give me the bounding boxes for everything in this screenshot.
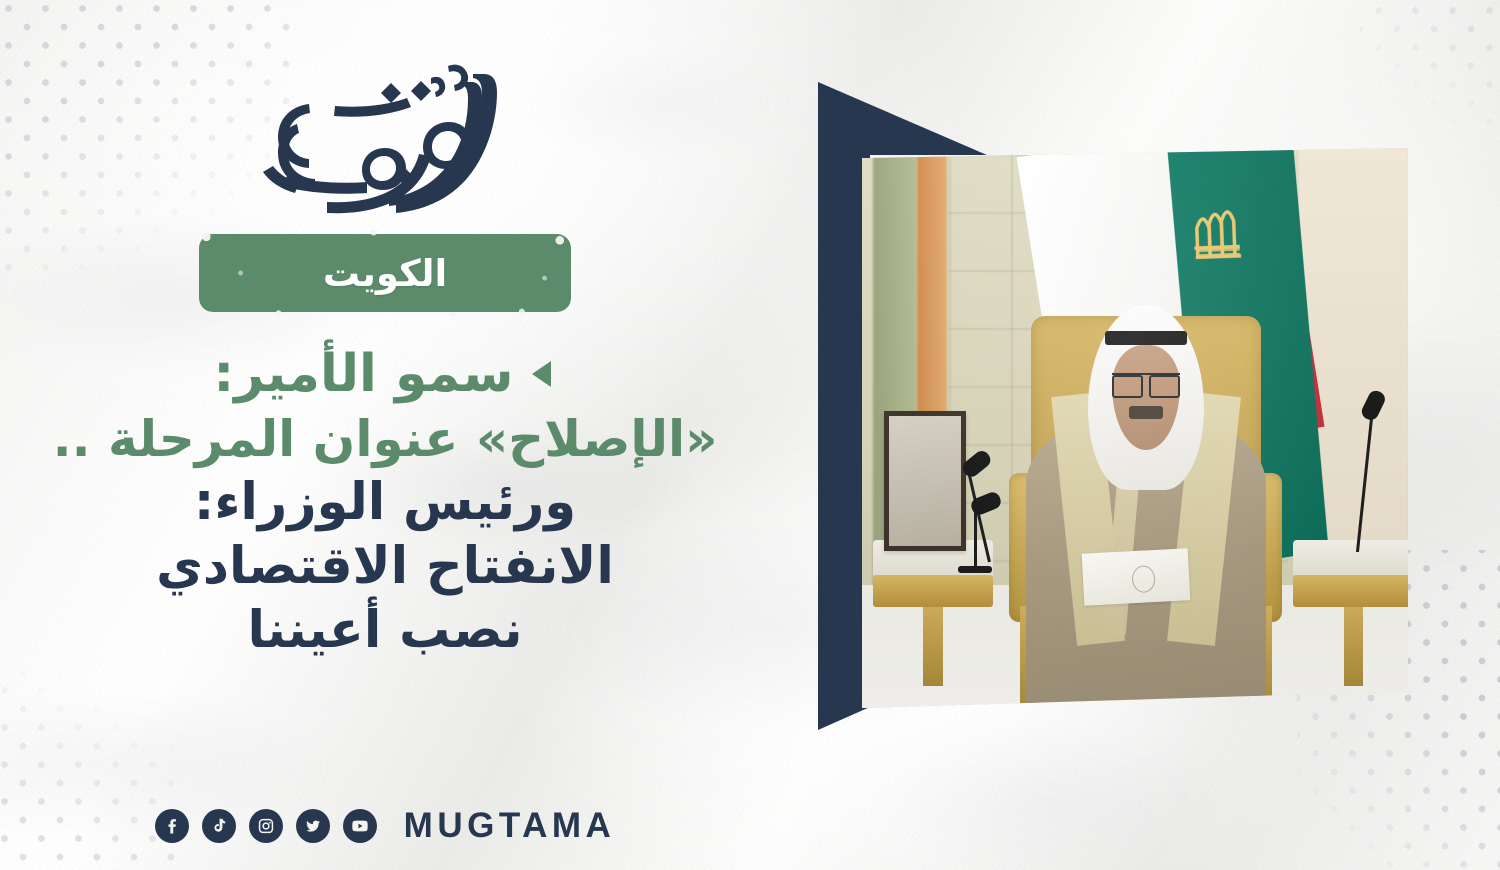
headline-line-4: الانفتاح الاقتصادي [35,535,735,599]
table-top-right [1293,540,1408,578]
brand-wordmark: MUGTAMA [404,806,616,846]
left-triangle-icon [532,361,551,387]
twitter-icon[interactable] [296,809,330,843]
youtube-icon[interactable] [343,809,377,843]
headline: سمو الأمير: «الإصلاح» عنوان المرحلة .. و… [35,342,735,663]
news-photo [862,148,1408,708]
table-band-left [873,575,993,607]
headline-line-3: ورئيس الوزراء: [35,471,735,535]
table-stem-left [923,607,942,686]
mustache [1129,406,1163,420]
table-band-right [1293,575,1408,607]
eyeglasses-icon [1112,373,1179,393]
instagram-icon[interactable] [249,809,283,843]
headline-line-2: «الإصلاح» عنوان المرحلة .. [35,408,735,471]
country-badge[interactable]: الكويت [199,234,571,312]
country-badge-label: الكويت [323,252,447,295]
facebook-icon[interactable] [155,809,189,843]
side-table-right [1293,540,1408,686]
headline-line-1: سمو الأمير: [35,342,735,408]
content-column: الكويت سمو الأمير: «الإصلاح» عنوان المرح… [0,0,770,870]
igal-band [1105,331,1187,345]
table-stem-right [1344,607,1363,686]
headline-line-5: نصب أعيننا [35,599,735,663]
tiktok-icon[interactable] [202,809,236,843]
social-media-news-card: الكويت سمو الأمير: «الإصلاح» عنوان المرح… [0,0,1500,870]
microphone-base [958,566,992,573]
emir-figure [1026,305,1266,708]
social-footer: MUGTAMA [0,806,770,846]
held-document [1082,548,1190,606]
headline-line-1-text: سمو الأمير: [213,344,513,404]
al-mujtama-logo-icon [235,52,535,222]
document-emblem [1131,564,1156,592]
framed-portrait [884,411,966,551]
photo-composition [800,60,1420,760]
microphone-stand-short [974,506,977,568]
gold-crown-emblem-icon [1186,195,1250,265]
